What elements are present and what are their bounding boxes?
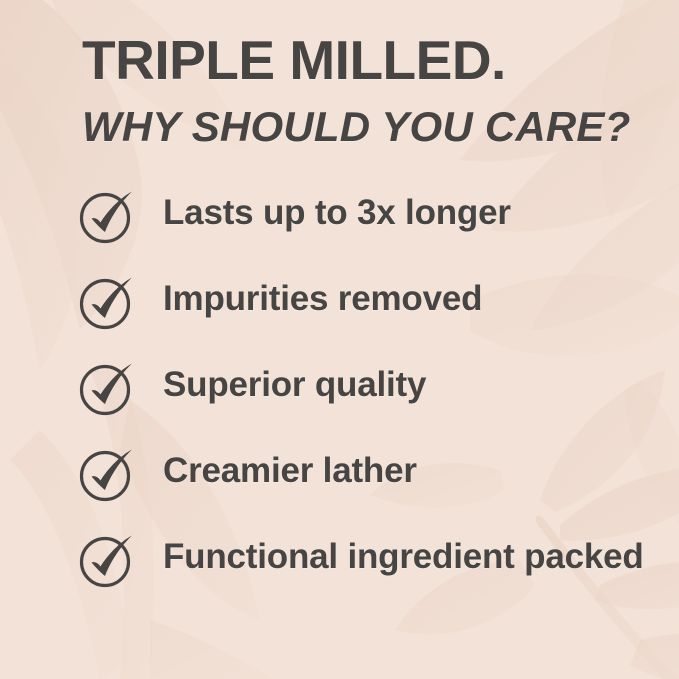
benefit-label: Functional ingredient packed [138, 535, 666, 580]
check-circle-icon [76, 187, 138, 245]
benefit-label: Lasts up to 3x longer [138, 191, 666, 236]
page-subtitle: WHY SHOULD YOU CARE? [82, 106, 642, 148]
benefit-label: Superior quality [138, 363, 666, 408]
benefit-label: Creamier lather [138, 449, 666, 494]
poster-canvas: TRIPLE MILLED. WHY SHOULD YOU CARE? Last… [0, 0, 679, 679]
list-item: Creamier lather [76, 444, 666, 530]
list-item: Impurities removed [76, 272, 666, 358]
list-item: Superior quality [76, 358, 666, 444]
heading-block: TRIPLE MILLED. WHY SHOULD YOU CARE? [82, 33, 642, 148]
benefit-label: Impurities removed [138, 277, 666, 322]
check-circle-icon [76, 531, 138, 589]
poster-content: TRIPLE MILLED. WHY SHOULD YOU CARE? Last… [0, 0, 679, 679]
check-circle-icon [76, 359, 138, 417]
page-title: TRIPLE MILLED. [82, 33, 642, 88]
benefits-list: Lasts up to 3x longer Impurities removed… [76, 186, 666, 589]
check-circle-icon [76, 445, 138, 503]
list-item: Functional ingredient packed [76, 530, 666, 589]
list-item: Lasts up to 3x longer [76, 186, 666, 272]
check-circle-icon [76, 273, 138, 331]
